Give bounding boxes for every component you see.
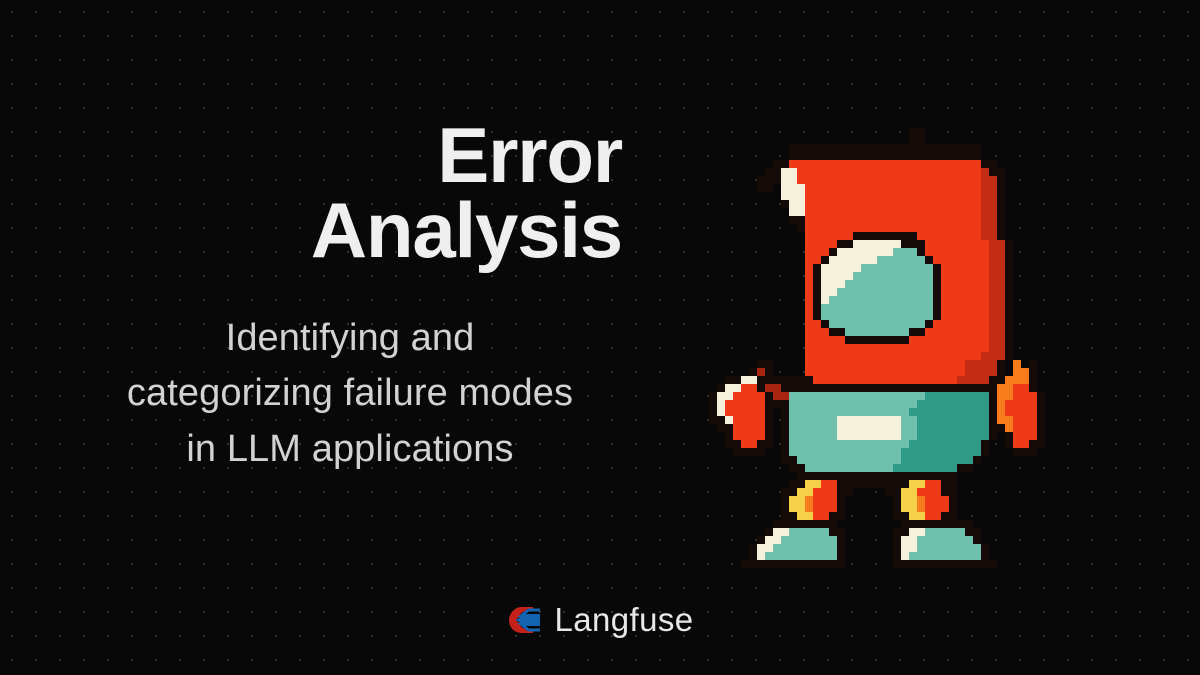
page-subtitle: Identifying and categorizing failure mod… xyxy=(30,311,670,477)
hero-text-column: Error Analysis Identifying and categoriz… xyxy=(0,0,700,595)
slide-canvas: Error Analysis Identifying and categoriz… xyxy=(0,0,1200,675)
subtitle-line-3: in LLM applications xyxy=(30,422,670,477)
subtitle-line-1: Identifying and xyxy=(30,311,670,366)
title-line-1: Error xyxy=(60,118,622,194)
pixel-art-robot-illustration xyxy=(693,128,1045,568)
page-title: Error Analysis xyxy=(60,118,640,269)
title-line-2: Analysis xyxy=(60,193,622,269)
langfuse-logo-icon xyxy=(507,606,541,634)
brand-name-label: Langfuse xyxy=(555,603,694,636)
subtitle-line-2: categorizing failure modes xyxy=(30,366,670,421)
brand-footer: Langfuse xyxy=(0,603,1200,636)
robot-sprite-canvas xyxy=(693,128,1045,568)
